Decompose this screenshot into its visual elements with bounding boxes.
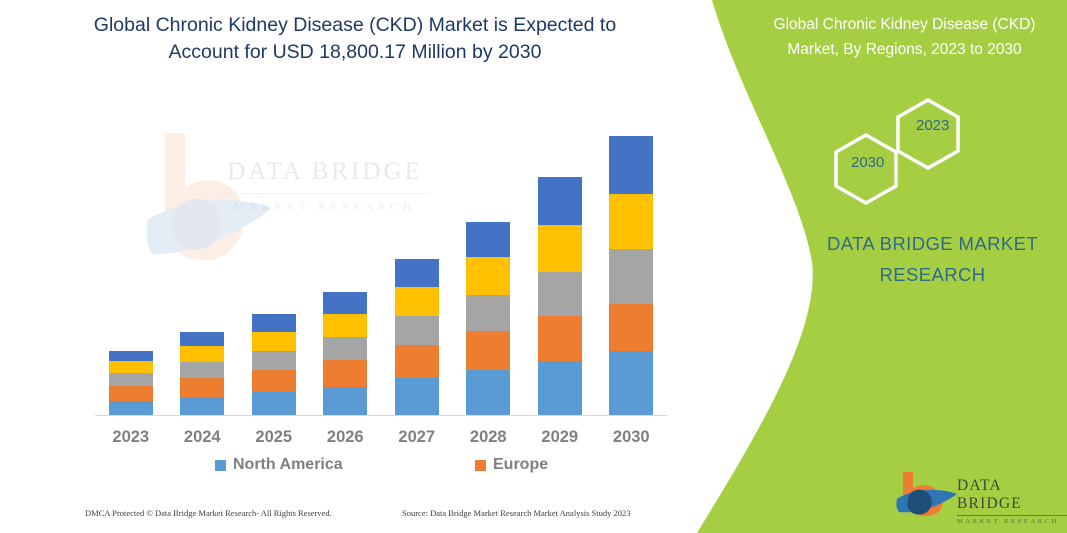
bar-segment (466, 257, 510, 295)
bar-segment (609, 194, 653, 249)
chart-pane: Global Chronic Kidney Disease (CKD) Mark… (0, 0, 700, 533)
bar-segment (395, 345, 439, 378)
bar-segment (109, 401, 153, 415)
bar-group (252, 314, 296, 415)
stacked-bar-chart (95, 120, 667, 415)
bar-segment (538, 225, 582, 272)
bar-segment (180, 362, 224, 378)
bar-segment (609, 304, 653, 351)
bar-segment (609, 136, 653, 194)
bar-segment (180, 332, 224, 346)
brand-logo-name: DATA BRIDGE (957, 477, 1067, 513)
bar-segment (252, 392, 296, 415)
panel-title-line2: Market, By Regions, 2023 to 2030 (752, 37, 1057, 62)
bar-segment (109, 361, 153, 373)
bar-segment (109, 373, 153, 386)
bar-segment (252, 332, 296, 351)
bar-segment (466, 370, 510, 415)
bar-segment (395, 259, 439, 287)
x-axis-tick-label: 2027 (381, 428, 453, 447)
bar-segment (252, 314, 296, 332)
bar-segment (323, 314, 367, 337)
brand-logo-text: DATA BRIDGE MARKET RESEARCH (957, 477, 1067, 525)
x-axis-line (95, 415, 667, 416)
x-axis-tick-label: 2028 (452, 428, 524, 447)
page-title-line1: Global Chronic Kidney Disease (CKD) Mark… (60, 12, 650, 39)
hexagon-badges: 2023 2030 (818, 92, 998, 207)
bar-group (323, 292, 367, 415)
bar-segment (395, 316, 439, 345)
bar-segment (323, 337, 367, 360)
x-axis-tick-label: 2024 (166, 428, 238, 447)
legend-label: Europe (493, 456, 548, 474)
bar-segment (466, 295, 510, 331)
bar-segment (538, 272, 582, 316)
x-axis-tick-label: 2030 (595, 428, 667, 447)
bar-segment (466, 222, 510, 257)
bar-segment (323, 387, 367, 415)
bar-segment (252, 370, 296, 392)
legend-swatch (475, 460, 486, 471)
hexagon-2023-icon (898, 100, 958, 168)
bar-segment (466, 331, 510, 370)
bar-segment (538, 177, 582, 225)
legend-item[interactable]: Europe (475, 456, 548, 474)
footer: DMCA Protected © Data Bridge Market Rese… (0, 508, 700, 526)
panel-title: Global Chronic Kidney Disease (CKD) Mark… (752, 12, 1057, 62)
brand-logo-divider (957, 515, 1067, 516)
bar-segment (609, 351, 653, 415)
x-axis-tick-label: 2029 (524, 428, 596, 447)
bar-group (466, 222, 510, 415)
bar-segment (395, 378, 439, 415)
bar-segment (395, 287, 439, 316)
panel-brand-line1: DATA BRIDGE MARKET (790, 228, 1067, 259)
x-axis-tick-label: 2025 (238, 428, 310, 447)
page-title: Global Chronic Kidney Disease (CKD) Mark… (60, 12, 650, 66)
x-axis-tick-labels: 20232024202520262027202820292030 (95, 428, 667, 454)
bar-group (109, 351, 153, 415)
bar-segment (609, 249, 653, 304)
legend-label: North America (233, 456, 343, 474)
bar-segment (323, 360, 367, 387)
legend-item[interactable]: North America (215, 456, 343, 474)
brand-logo-tagline: MARKET RESEARCH (957, 518, 1067, 525)
hexagon-badge-2030-label: 2030 (851, 154, 884, 171)
bar-segment (538, 316, 582, 361)
x-axis-tick-label: 2026 (309, 428, 381, 447)
bar-group (538, 177, 582, 415)
footer-copyright: DMCA Protected © Data Bridge Market Rese… (85, 508, 332, 518)
footer-source: Source: Data Bridge Market Research Mark… (402, 508, 631, 518)
bar-segment (323, 292, 367, 314)
bar-segment (252, 351, 296, 370)
bar-group (609, 136, 653, 415)
panel-brand-text: DATA BRIDGE MARKET RESEARCH (790, 228, 1067, 290)
panel-title-line1: Global Chronic Kidney Disease (CKD) (752, 12, 1057, 37)
page-title-line2: Account for USD 18,800.17 Million by 203… (60, 39, 650, 66)
bar-segment (180, 397, 224, 415)
bar-segment (180, 346, 224, 362)
bar-group (395, 259, 439, 415)
legend-swatch (215, 460, 226, 471)
bar-segment (180, 378, 224, 397)
bar-segment (109, 351, 153, 361)
bar-segment (109, 386, 153, 401)
panel-brand-line2: RESEARCH (790, 259, 1067, 290)
hexagon-badge-2023-label: 2023 (916, 117, 949, 134)
x-axis-tick-label: 2023 (95, 428, 167, 447)
chart-legend: North AmericaEurope (95, 456, 667, 480)
bar-group (180, 332, 224, 415)
bar-segment (538, 361, 582, 415)
infographic-root: Global Chronic Kidney Disease (CKD) Mark… (0, 0, 1067, 533)
